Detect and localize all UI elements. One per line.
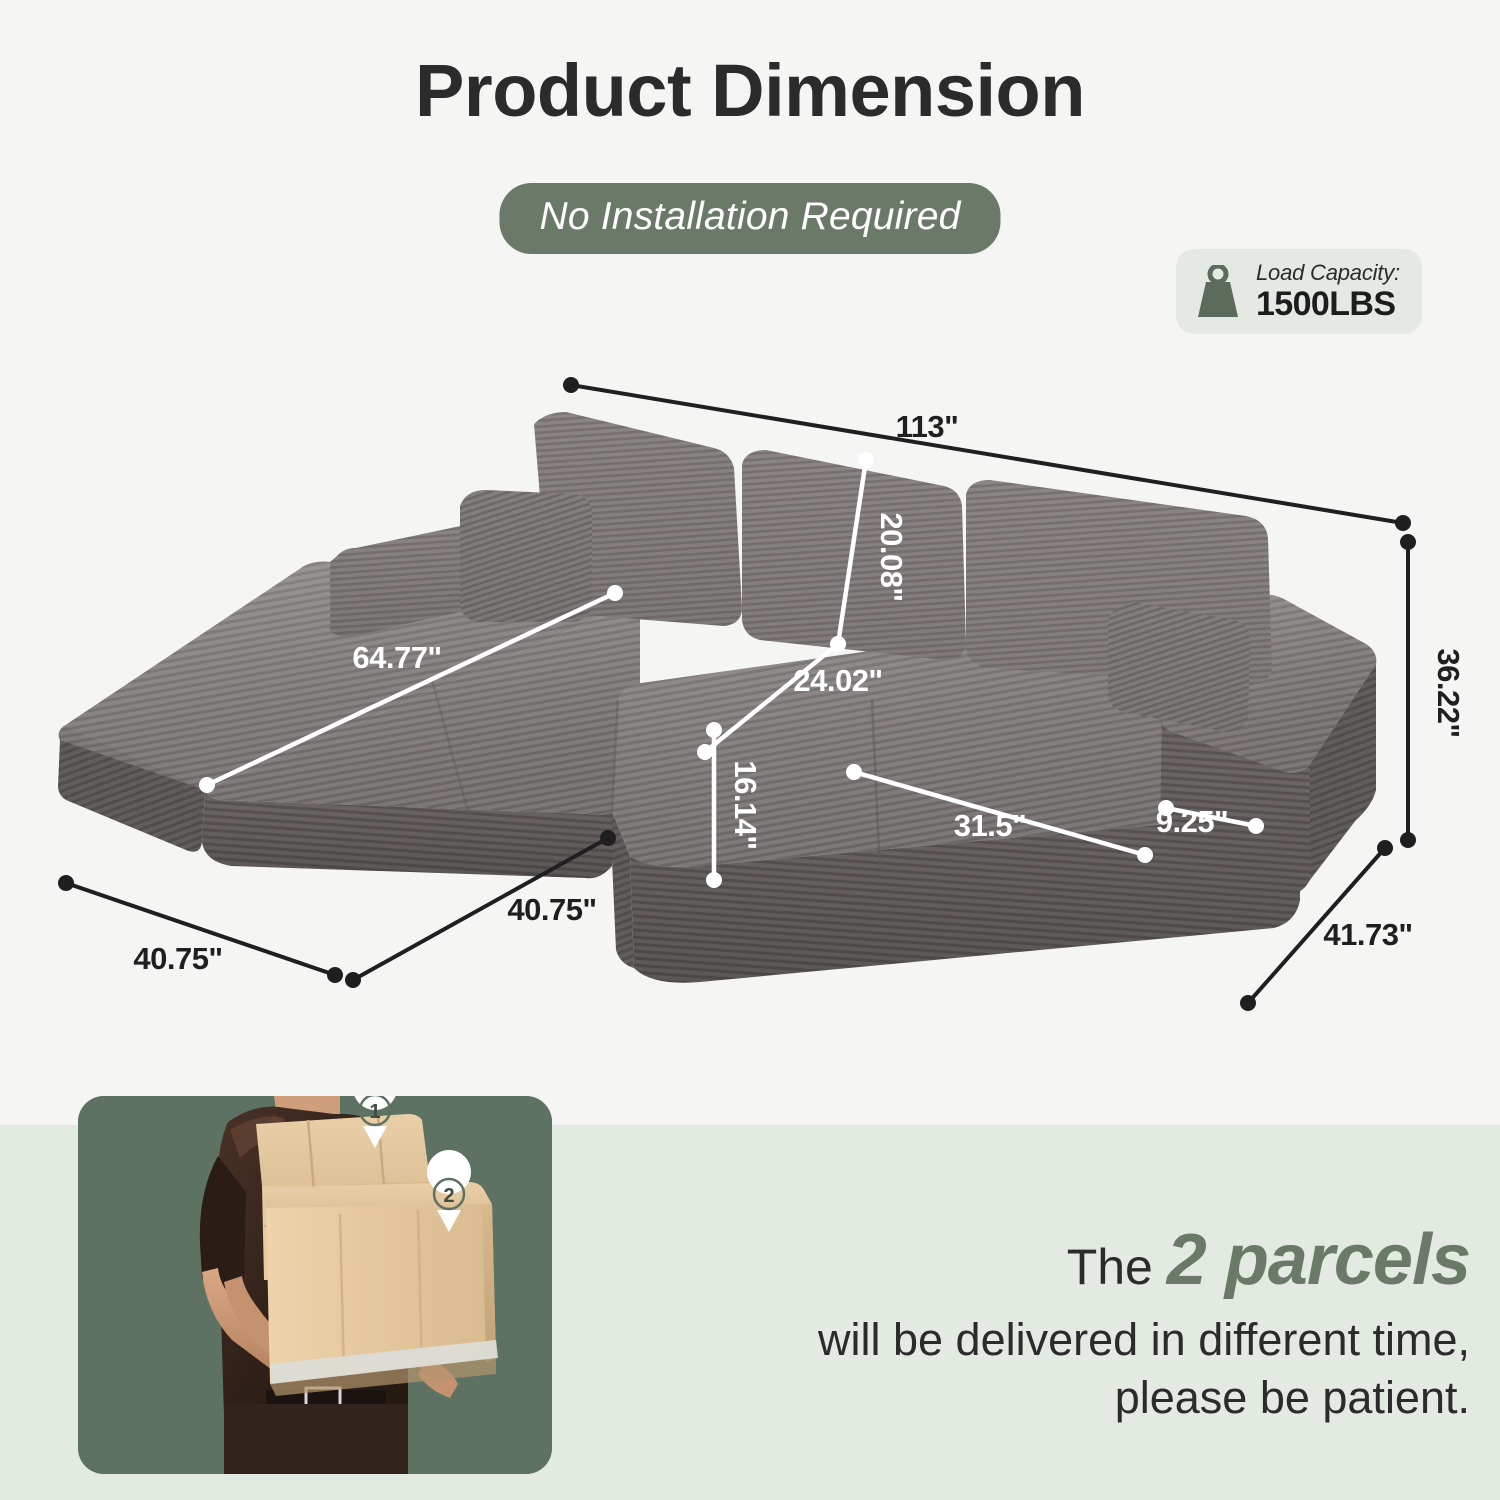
dimension-chaise-width-left: 40.75" bbox=[58, 875, 343, 983]
delivery-photo: 1 2 bbox=[78, 1096, 552, 1474]
dimension-label-16-14: 16.14" bbox=[728, 760, 763, 849]
dimension-label-24-02: 24.02" bbox=[793, 663, 882, 698]
dimension-label-20-08: 20.08" bbox=[874, 512, 909, 601]
product-dimension-section: Product Dimension No Installation Requir… bbox=[0, 0, 1500, 1125]
parcel-marker-1-label: 1 bbox=[369, 1101, 380, 1123]
parcel-message-prefix: The bbox=[1067, 1239, 1153, 1295]
sofa-diagram: 113" 36.22" 41.73" bbox=[0, 0, 1500, 1125]
parcel-message-line-3: please be patient. bbox=[620, 1369, 1470, 1428]
dimension-label-41-73: 41.73" bbox=[1323, 917, 1412, 952]
parcel-message-line-2: will be delivered in different time, bbox=[620, 1311, 1470, 1370]
dimension-label-40-75-right: 40.75" bbox=[507, 892, 596, 927]
parcel-marker-2-label: 2 bbox=[443, 1185, 454, 1207]
dimension-label-40-75-left: 40.75" bbox=[133, 941, 222, 976]
dimension-label-36-22: 36.22" bbox=[1431, 648, 1466, 737]
parcel-count-highlight: 2 parcels bbox=[1167, 1220, 1470, 1300]
dimension-label-31-5: 31.5" bbox=[954, 808, 1027, 843]
parcel-message: The 2 parcels will be delivered in diffe… bbox=[620, 1218, 1470, 1428]
sofa-illustration bbox=[58, 412, 1377, 983]
dimension-label-64-77: 64.77" bbox=[352, 640, 441, 675]
dimension-label-113: 113" bbox=[896, 409, 959, 444]
parcel-box-2 bbox=[262, 1182, 498, 1396]
dimension-overall-height: 36.22" bbox=[1400, 534, 1466, 848]
dimension-label-9-25: 9.25" bbox=[1156, 804, 1229, 839]
